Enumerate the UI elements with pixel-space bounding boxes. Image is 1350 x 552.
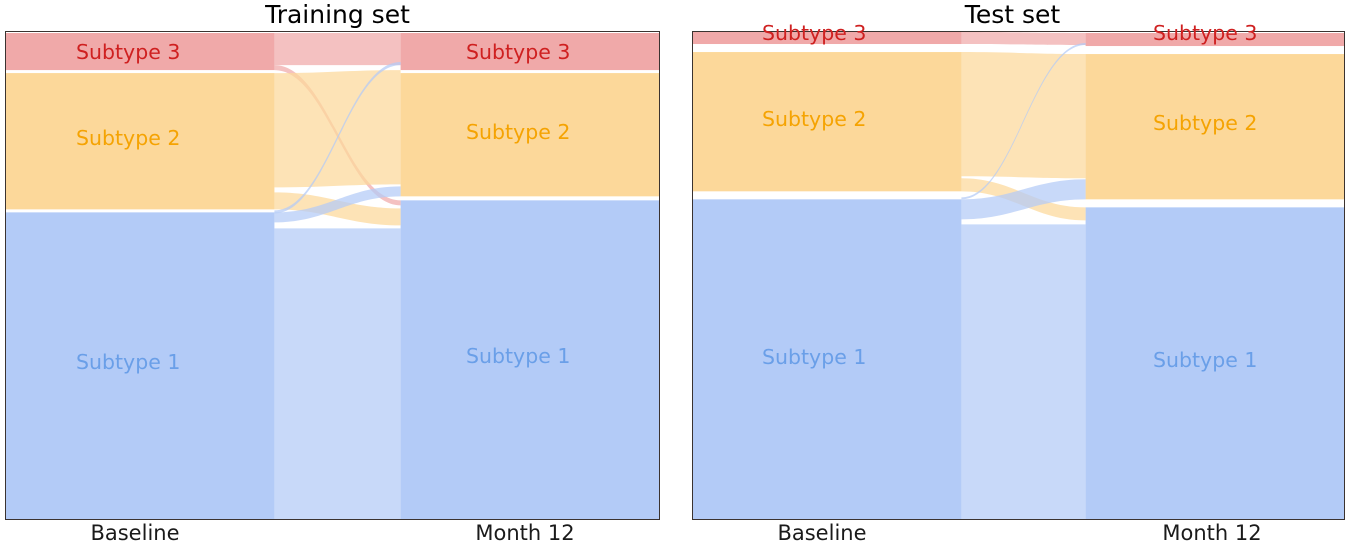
node-label-left-subtype2-test: Subtype 2 [762, 108, 866, 130]
plot-area-test [692, 31, 1345, 520]
flow-subtype-1-to-subtype-1 [961, 224, 1085, 519]
panel-test-set: Test set Subtype 3 Subtype 2 Subtype 1 S… [675, 0, 1350, 552]
axis-label-month12-training: Month 12 [450, 521, 600, 546]
node-label-left-subtype3-training: Subtype 3 [76, 41, 180, 63]
axis-label-baseline-training: Baseline [60, 521, 210, 546]
axis-label-baseline-test: Baseline [747, 521, 897, 546]
node-label-right-subtype1-test: Subtype 1 [1153, 349, 1257, 371]
sankey-canvas-training [6, 32, 659, 519]
flow-subtype-2-to-subtype-2 [961, 52, 1085, 178]
node-label-right-subtype3-training: Subtype 3 [466, 41, 570, 63]
node-label-right-subtype2-training: Subtype 2 [466, 121, 570, 143]
node-label-left-subtype1-training: Subtype 1 [76, 351, 180, 373]
node-label-right-subtype2-test: Subtype 2 [1153, 112, 1257, 134]
flow-subtype-3-to-subtype-3 [961, 32, 1085, 45]
node-label-left-subtype1-test: Subtype 1 [762, 346, 866, 368]
node-label-right-subtype1-training: Subtype 1 [466, 345, 570, 367]
node-label-left-subtype2-training: Subtype 2 [76, 127, 180, 149]
panel-training-set: Training set Subtype 3 Subtype 2 Subtype… [0, 0, 675, 552]
node-label-right-subtype3-test: Subtype 3 [1153, 22, 1257, 44]
plot-area-training [5, 31, 660, 520]
flow-subtype-2-to-subtype-2 [274, 70, 400, 187]
sankey-figure: Training set Subtype 3 Subtype 2 Subtype… [0, 0, 1350, 552]
flow-subtype-1-to-subtype-1 [274, 228, 400, 519]
axis-label-month12-test: Month 12 [1137, 521, 1287, 546]
sankey-canvas-test [693, 32, 1344, 519]
flow-subtype-3-to-subtype-3 [274, 33, 400, 65]
node-label-left-subtype3-test: Subtype 3 [762, 22, 866, 44]
panel-title-training: Training set [0, 0, 675, 30]
